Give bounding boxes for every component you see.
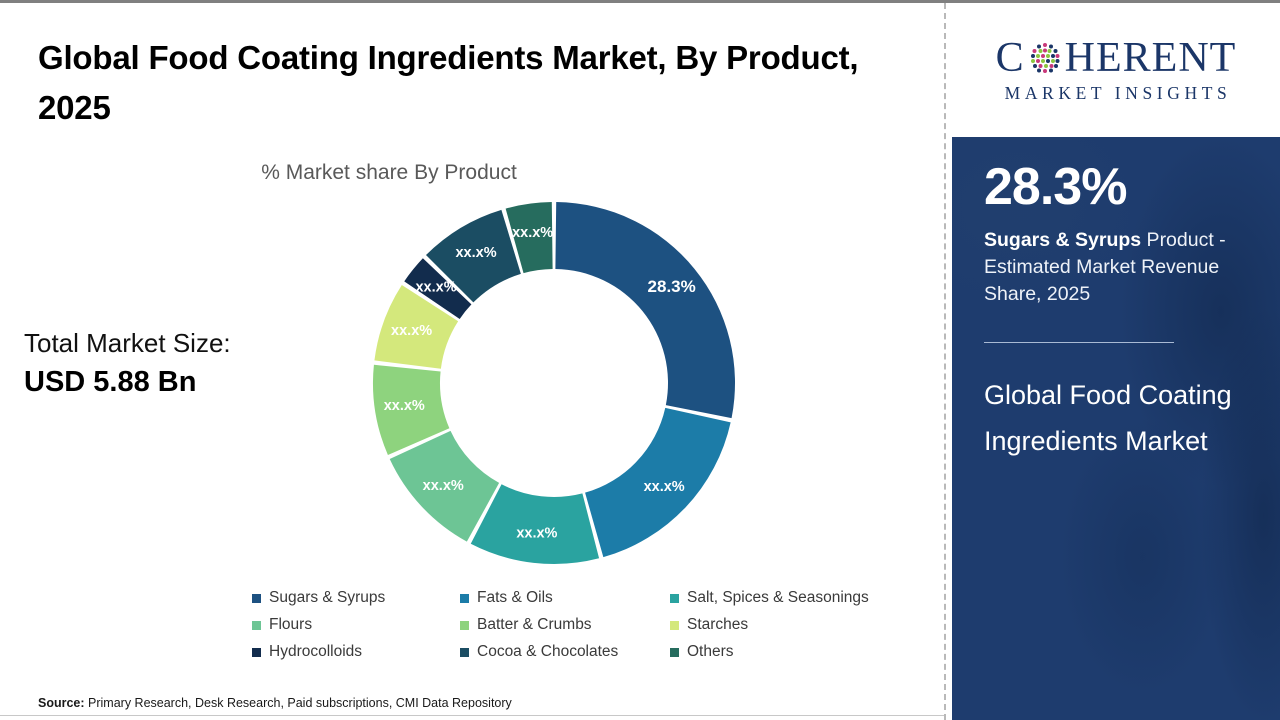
logo-letter-c: C xyxy=(996,37,1025,79)
donut-slice[interactable] xyxy=(555,202,735,418)
donut-slice-label: 28.3% xyxy=(648,277,696,296)
donut-slice-label: xx.x% xyxy=(512,225,553,241)
legend-swatch-icon xyxy=(670,621,679,630)
stat-divider xyxy=(984,342,1174,343)
donut-slice-label: xx.x% xyxy=(516,525,557,541)
stat-value: 28.3% xyxy=(984,137,1248,213)
logo-tagline: MARKET INSIGHTS xyxy=(996,83,1237,104)
legend-item[interactable]: Cocoa & Chocolates xyxy=(460,643,670,661)
brand-logo[interactable]: C xyxy=(952,3,1280,137)
legend-item[interactable]: Sugars & Syrups xyxy=(252,589,460,607)
legend-item[interactable]: Others xyxy=(670,643,912,661)
legend-item-label: Fats & Oils xyxy=(477,589,553,607)
legend-swatch-icon xyxy=(252,594,261,603)
legend-item-label: Cocoa & Chocolates xyxy=(477,643,618,661)
legend-item[interactable]: Salt, Spices & Seasonings xyxy=(670,589,912,607)
donut-slices xyxy=(373,202,735,564)
total-market-value: USD 5.88 Bn xyxy=(24,362,324,403)
page-title: Global Food Coating Ingredients Market, … xyxy=(38,33,868,133)
panel-divider xyxy=(944,3,946,720)
sidebar-stat-panel: 28.3% Sugars & Syrups Product - Estimate… xyxy=(952,137,1280,720)
legend-swatch-icon xyxy=(670,648,679,657)
logo-wordmark: C xyxy=(996,37,1237,79)
legend-swatch-icon xyxy=(460,621,469,630)
logo-letters-rest: HERENT xyxy=(1065,37,1237,79)
legend-item[interactable]: Fats & Oils xyxy=(460,589,670,607)
legend-item-label: Salt, Spices & Seasonings xyxy=(687,589,869,607)
source-text: Primary Research, Desk Research, Paid su… xyxy=(85,696,512,710)
donut-slice-label: xx.x% xyxy=(415,280,456,296)
legend-item-label: Hydrocolloids xyxy=(269,643,362,661)
legend-item-label: Starches xyxy=(687,616,748,634)
legend-swatch-icon xyxy=(460,648,469,657)
sidebar-market-name: Global Food Coating Ingredients Market xyxy=(984,373,1248,465)
chart-legend: Sugars & SyrupsFats & OilsSalt, Spices &… xyxy=(252,589,912,661)
chart-subtitle: % Market share By Product xyxy=(0,161,944,185)
legend-swatch-icon xyxy=(670,594,679,603)
infographic-page: Global Food Coating Ingredients Market, … xyxy=(0,0,1280,720)
donut-slice-label: xx.x% xyxy=(391,323,432,339)
donut-slice-label: xx.x% xyxy=(455,245,496,261)
sidebar: C xyxy=(952,3,1280,720)
legend-item[interactable]: Flours xyxy=(252,616,460,634)
legend-swatch-icon xyxy=(460,594,469,603)
source-label: Source: xyxy=(38,696,85,710)
stat-highlight: Sugars & Syrups xyxy=(984,229,1141,251)
donut-slice-label: xx.x% xyxy=(644,479,685,495)
legend-item-label: Batter & Crumbs xyxy=(477,616,592,634)
total-market-label: Total Market Size: xyxy=(24,325,324,362)
source-note: Source: Primary Research, Desk Research,… xyxy=(38,696,512,710)
donut-slice-label: xx.x% xyxy=(423,478,464,494)
source-divider xyxy=(0,715,944,716)
legend-swatch-icon xyxy=(252,648,261,657)
legend-item-label: Flours xyxy=(269,616,312,634)
legend-item-label: Others xyxy=(687,643,734,661)
donut-chart: 28.3%xx.x%xx.x%xx.x%xx.x%xx.x%xx.x%xx.x%… xyxy=(330,183,780,583)
legend-item[interactable]: Batter & Crumbs xyxy=(460,616,670,634)
globe-dots-icon xyxy=(1026,39,1064,77)
legend-item[interactable]: Starches xyxy=(670,616,912,634)
legend-swatch-icon xyxy=(252,621,261,630)
chart-subtitle-text: % Market share By Product xyxy=(261,161,517,184)
stat-description: Sugars & Syrups Product - Estimated Mark… xyxy=(984,227,1248,308)
legend-item[interactable]: Hydrocolloids xyxy=(252,643,460,661)
main-panel: Global Food Coating Ingredients Market, … xyxy=(0,3,944,720)
donut-chart-svg: 28.3%xx.x%xx.x%xx.x%xx.x%xx.x%xx.x%xx.x%… xyxy=(330,183,780,583)
legend-item-label: Sugars & Syrups xyxy=(269,589,385,607)
donut-slice-label: xx.x% xyxy=(384,398,425,414)
total-market-size: Total Market Size: USD 5.88 Bn xyxy=(24,325,324,403)
